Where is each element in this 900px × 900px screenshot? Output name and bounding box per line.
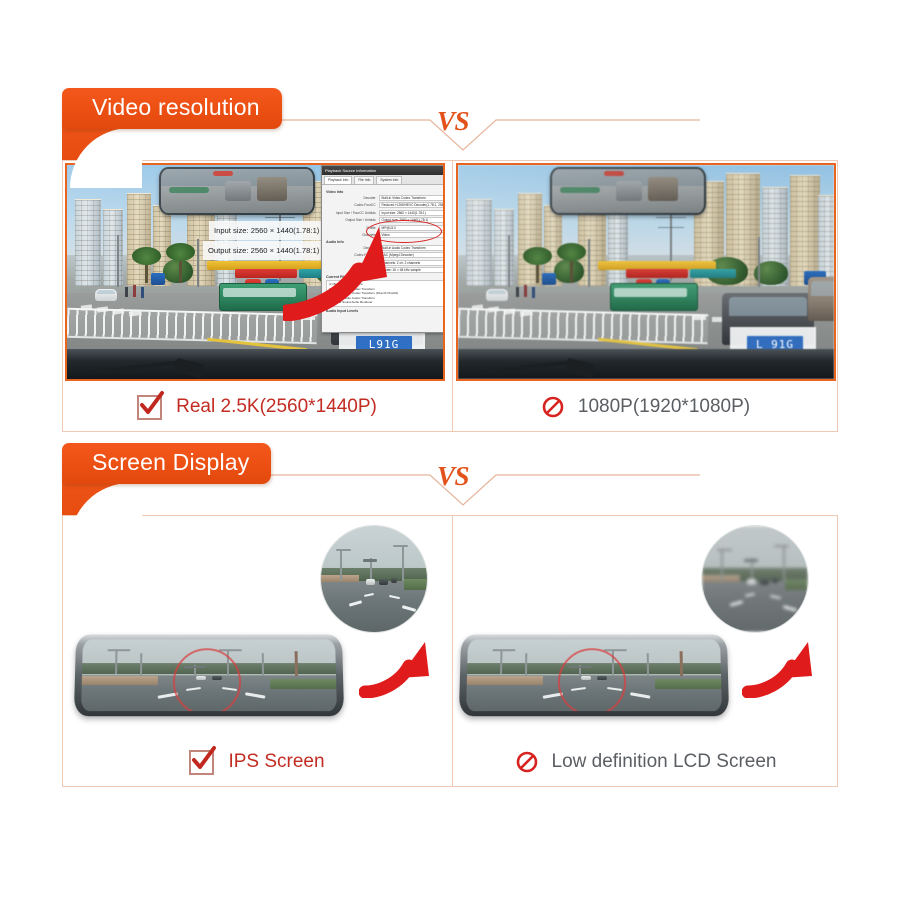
dialog-titlebar: Playback Source Information ✕ [322,166,443,175]
dialog-row: ChannelsChannels: 2 ch: 2 channels [326,260,443,266]
roadside-grass [655,679,721,689]
badge-screen-display: Screen Display [62,443,271,515]
mirror-screen-ips [81,639,337,711]
median-barrier [82,676,158,685]
lamp-post [140,654,142,675]
lamp-post [721,549,723,581]
building [75,199,101,286]
row-value: Channels: 2 ch: 2 channels [379,260,443,266]
zoom-bubble-ips [321,526,427,632]
badge-video-resolution: Video resolution [62,88,282,160]
roadside-grass [270,679,336,689]
row-value-input-size: Input size: 2560 × 1440(1.78:1) [379,210,443,216]
mirror-car [225,181,251,201]
vs-label-video: VS [437,106,469,137]
row-value: Bitrate: 16 × 48 kHz sample [379,267,443,273]
comparison-frame-screen: IPS Screen Low definition LCD Screen [62,515,838,787]
row-label: Decoder [326,246,376,250]
vehicle [391,578,397,583]
mirror-bus [169,187,209,193]
badge-label-video: Video resolution [62,88,282,129]
checkbox-checked-icon [189,750,214,775]
dialog-row: DecoderBuilt-in Video Codec Transform [326,195,443,201]
pedestrian [524,285,527,297]
overlay-input-size: Input size: 2560 × 1440(1.78:1) [209,221,324,240]
dialog-row: ProfileMP@L5.0 [326,225,443,231]
rearview-mirror-strip [550,167,706,215]
dialog-body: Video Info DecoderBuilt-in Video Codec T… [322,185,443,317]
comparison-frame-video: L91G [62,160,838,432]
building [790,175,820,286]
car-hood [458,349,834,379]
lamp-arm [717,549,732,551]
lamp-post [783,545,785,581]
street-lamp [117,235,119,287]
lamp-post [680,651,683,677]
tree [554,259,584,283]
row-label: Decoder [326,196,376,200]
mirror-car [648,177,678,201]
dialog-tabs: Playback Info File Info System Info [322,175,443,185]
row-value: Video [379,232,443,238]
tab-playback-info[interactable]: Playback Info [324,176,352,184]
prohibition-icon [516,751,538,773]
tab-system-info[interactable]: System Info [376,176,402,184]
infographic-page: VS Video resolution [0,0,900,900]
row-value: Built-in Video Codec Transform [379,195,443,201]
power-wire [658,227,684,228]
mirror-sign [213,171,233,176]
lamp-post [525,654,527,675]
median-barrier [467,676,543,685]
caption-text-ips: IPS Screen [228,751,324,773]
caption-left-screen: IPS Screen [63,738,451,786]
caption-text-1080p: 1080P(1920*1080P) [578,396,750,418]
vehicle [379,579,387,585]
caption-text-lcd: Low definition LCD Screen [552,751,777,773]
row-label: Profile [326,226,376,230]
dialog-row: Codec FourCCReduced H.265/HEVC Decoder(1… [326,202,443,208]
caption-text-2-5k: Real 2.5K(2560*1440P) [176,396,377,418]
gantry-sign [363,559,377,562]
caption-right-screen: Low definition LCD Screen [452,738,840,786]
row-label: Channels [326,261,376,265]
lamp-arm [336,549,351,551]
group-title-audio-levels: Audio Input Levels [326,309,443,313]
pedestrian [133,285,136,297]
mirror-dashcam-ips[interactable] [74,635,344,717]
building [103,209,123,286]
street-scene-sharp: L91G [67,165,443,379]
mirror-car [616,181,642,201]
caption-left-video: Real 2.5K(2560*1440P) [63,383,451,431]
building [466,199,492,286]
lamp-post [262,654,264,677]
photo-2-5k: L91G [65,163,445,381]
palm-tree [179,253,182,283]
power-wire [656,217,686,218]
mirror-car [257,177,287,201]
roadside-grass [785,579,808,590]
row-value: AAC (Mpeg4 Decoder) [379,252,443,258]
overlay-output-size: Output size: 2560 × 1440(1.78:1) [203,241,324,260]
prohibition-icon [542,396,564,418]
tree [163,259,193,283]
silver-van [808,277,834,321]
shop-signboard [690,269,736,278]
shop-signboard [626,269,688,278]
vehicle [760,579,768,585]
row-label: Channels [326,233,376,237]
pedestrian [532,287,535,298]
group-title-audio: Audio Info [326,240,443,244]
rearview-mirror-strip [159,167,315,215]
lamp-post [647,654,649,677]
street-lamp [508,235,510,287]
row-label: Input Size / FourCC Unfolds [326,211,376,215]
vs-label-screen: VS [437,461,469,492]
mirror-sign [604,171,624,176]
row-label: Codec FourCC [326,253,376,257]
dialog-row: Sample RateBitrate: 16 × 48 kHz sample [326,267,443,273]
mirror-dashcam-lcd[interactable] [459,635,729,717]
street-lamp [197,239,199,287]
photo-1080p: L 91G [456,163,836,381]
dialog-title: Playback Source Information [325,168,376,173]
palm-tree [536,257,539,283]
filter-list[interactable]: (1) Built-in MPEG Source (2) Built-in Vi… [326,280,443,307]
palm-tree [145,257,148,283]
playback-source-information-dialog[interactable]: Playback Source Information ✕ Playback I… [321,165,443,333]
pedestrian [141,287,144,298]
lamp-arm [774,545,789,547]
city-bus [219,283,307,311]
white-car [95,289,117,301]
street-scene-lowres: L 91G [458,165,834,379]
pedestrian [125,287,128,297]
row-label: Output Size / Unfolds [326,218,376,222]
lamp-arm [393,545,408,547]
street-lamp [758,237,760,287]
pedestrian [516,287,519,297]
lamp-post [340,549,342,581]
vehicle [366,579,376,585]
red-curved-arrow-ips [359,636,431,698]
mirror-bus [560,187,600,193]
row-value: MP@L5.0 [379,225,443,231]
section-video-resolution: VS Video resolution [0,88,900,448]
lamp-arm [108,649,131,651]
lamp-arm [493,649,516,651]
lamp-post [402,545,404,581]
dialog-row: DecoderBuilt-in Audio Codec Transform [326,245,443,251]
row-value-output-size: Output size: 2560 × 1440(1.78:1) [379,217,443,223]
group-title-filter-list: Current Filter List [326,275,443,279]
row-label: Sample Rate [326,268,376,272]
caption-row-screen: IPS Screen Low definition LCD Screen [63,738,837,786]
highway-scene-magnified-sharp [321,526,427,632]
mirror-screen-lcd [466,639,722,711]
red-curved-arrow-lcd [742,636,814,698]
group-title-video: Video Info [326,190,443,194]
palm-tree [570,253,573,283]
white-car [486,289,508,301]
checkbox-checked-icon [137,395,162,420]
gantry-sign [744,559,758,562]
section-screen-display: VS Screen Display [0,443,900,798]
dialog-row: Codec FourCCAAC (Mpeg4 Decoder) [326,252,443,258]
row-value: Built-in Audio Codec Transform [379,245,443,251]
filter-item: (5) Direct Sound Audio Renderer [329,300,441,305]
lamp-post [295,651,298,677]
city-bus [610,283,698,311]
power-wire [265,217,295,218]
highway-scene-magnified-blurry [702,526,808,632]
car-hood [67,349,443,379]
shop-signboard [235,269,297,278]
tab-file-info[interactable]: File Info [354,176,374,184]
badge-label-screen: Screen Display [62,443,271,484]
building [494,209,514,286]
row-label: Codec FourCC [326,203,376,207]
roadside-grass [404,579,427,590]
caption-right-video: 1080P(1920*1080P) [452,383,840,431]
vehicle [747,579,757,585]
road-sign [542,273,556,285]
caption-row-video: Real 2.5K(2560*1440P) 1080P(1920*1080P) [63,383,837,431]
street-lamp [588,239,590,287]
road-sign [151,273,165,285]
dialog-row: Output Size / UnfoldsOutput size: 2560 ×… [326,217,443,223]
dialog-row: ChannelsVideo [326,232,443,238]
row-value: Reduced H.265/HEVC Decoder(1.78:1, 2560×… [379,202,443,208]
zoom-bubble-lcd [702,526,808,632]
dialog-row: Input Size / FourCC UnfoldsInput size: 2… [326,210,443,216]
building [608,207,628,286]
vehicle [772,578,778,583]
